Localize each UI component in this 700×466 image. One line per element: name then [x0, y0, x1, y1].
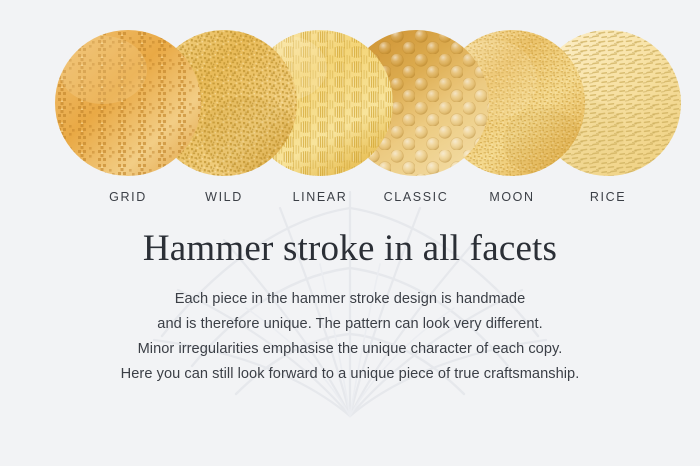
- promo-banner: GRID: [0, 0, 700, 466]
- description-paragraph: Each piece in the hammer stroke design i…: [0, 287, 700, 387]
- swatch-grid-disc: [55, 30, 201, 176]
- paragraph-line-2: and is therefore unique. The pattern can…: [0, 312, 700, 337]
- swatch-label-grid: GRID: [109, 190, 147, 204]
- swatch-label-linear: LINEAR: [293, 190, 348, 204]
- swatch-grid[interactable]: GRID: [55, 30, 201, 176]
- swatch-label-wild: WILD: [205, 190, 243, 204]
- texture-swatch-row: GRID: [0, 0, 700, 212]
- text-block: Hammer stroke in all facets Each piece i…: [0, 228, 700, 387]
- swatch-label-rice: RICE: [590, 190, 626, 204]
- paragraph-line-3: Minor irregularities emphasise the uniqu…: [0, 337, 700, 362]
- paragraph-line-4: Here you can still look forward to a uni…: [0, 362, 700, 387]
- grid-crosshatch-icon: [55, 30, 201, 176]
- page-title: Hammer stroke in all facets: [0, 228, 700, 269]
- swatch-label-moon: MOON: [489, 190, 534, 204]
- swatch-label-classic: CLASSIC: [384, 190, 449, 204]
- paragraph-line-1: Each piece in the hammer stroke design i…: [0, 287, 700, 312]
